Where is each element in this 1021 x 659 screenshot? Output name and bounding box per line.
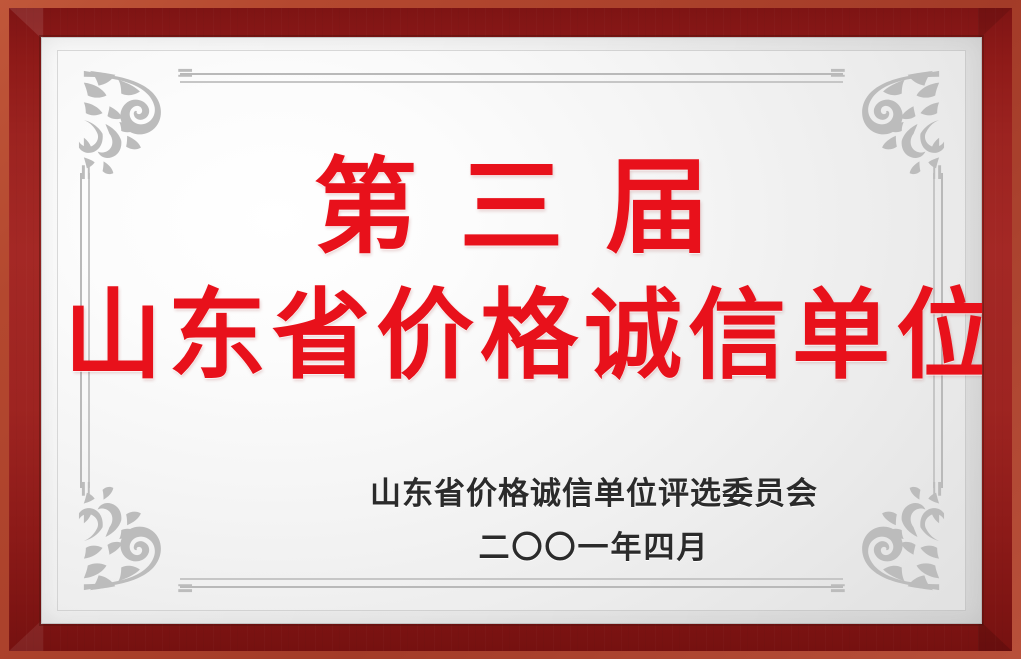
plate-inner-field: 第三届 山东省价格诚信单位 山东省价格诚信单位评选委员会 二〇〇一年四月 (58, 51, 965, 610)
plaque-content: 第三届 山东省价格诚信单位 山东省价格诚信单位评选委员会 二〇〇一年四月 (58, 51, 965, 610)
issue-date: 二〇〇一年四月 (58, 533, 965, 564)
issuing-organization: 山东省价格诚信单位评选委员会 (58, 479, 965, 510)
award-plaque: 第三届 山东省价格诚信单位 山东省价格诚信单位评选委员会 二〇〇一年四月 (0, 0, 1021, 659)
certificate-plate: 第三届 山东省价格诚信单位 山东省价格诚信单位评选委员会 二〇〇一年四月 (41, 37, 982, 624)
award-title-line-2: 山东省价格诚信单位 (58, 287, 965, 385)
award-title-line-1: 第三届 (58, 155, 965, 259)
